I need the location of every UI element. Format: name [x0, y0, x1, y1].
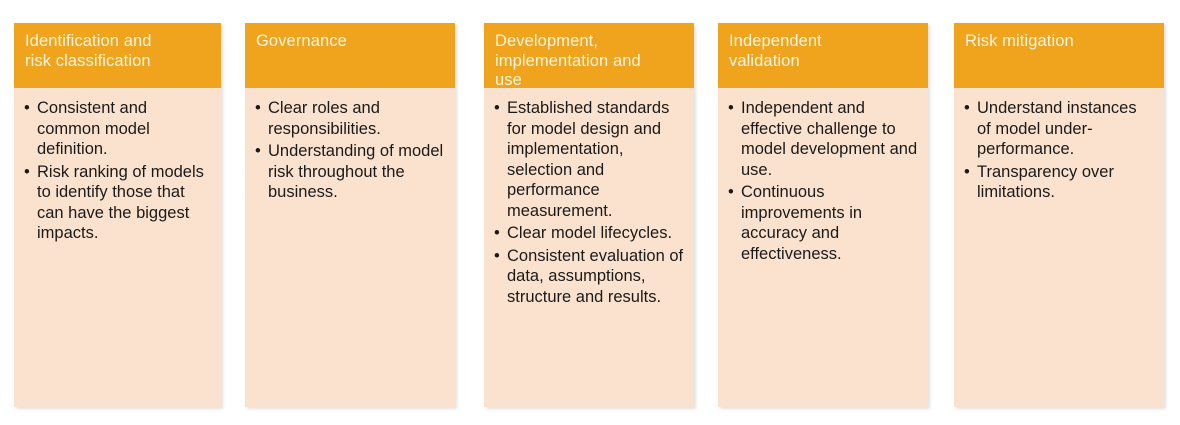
card-body: •Established standards for model design …: [484, 88, 694, 407]
framework-card-independent-validation: Independent validation •Independent and …: [718, 23, 928, 407]
list-item-label: Transparency over limitations.: [977, 163, 1114, 202]
list-item: •Established standards for model design …: [493, 98, 684, 221]
card-title: Development, implementation and use: [495, 32, 683, 91]
bullet-list: •Consistent and common model definition.…: [23, 98, 211, 244]
model-risk-management-framework-diagram: Identification and risk classification •…: [0, 0, 1180, 425]
list-item: •Understand instances of model under-per…: [963, 98, 1154, 160]
bullet-point-icon: •: [728, 182, 734, 203]
list-item: •Clear model lifecycles.: [493, 223, 684, 244]
card-body: •Independent and effective challenge to …: [718, 88, 928, 407]
card-title: Identification and risk classification: [25, 32, 210, 71]
list-item: •Continuous improvements in accuracy and…: [727, 182, 918, 264]
card-body: •Understand instances of model under-per…: [954, 88, 1164, 407]
card-header-independent-validation: Independent validation: [718, 23, 928, 88]
card-body: •Clear roles and responsibilities. •Unde…: [245, 88, 455, 407]
list-item-label: Independent and effective challenge to m…: [741, 99, 917, 179]
list-item: •Risk ranking of models to identify thos…: [23, 162, 211, 244]
bullet-point-icon: •: [494, 246, 500, 267]
card-body: •Consistent and common model definition.…: [14, 88, 221, 407]
list-item: •Consistent and common model definition.: [23, 98, 211, 160]
card-header-governance: Governance: [245, 23, 455, 88]
bullet-point-icon: •: [728, 98, 734, 119]
bullet-point-icon: •: [255, 141, 261, 162]
list-item-label: Consistent and common model definition.: [37, 99, 150, 158]
framework-card-identification-and-risk-classification: Identification and risk classification •…: [14, 23, 221, 407]
bullet-point-icon: •: [494, 223, 500, 244]
list-item: •Clear roles and responsibilities.: [254, 98, 445, 139]
list-item-label: Clear model lifecycles.: [507, 224, 672, 242]
list-item-label: Established standards for model design a…: [507, 99, 669, 220]
list-item: •Independent and effective challenge to …: [727, 98, 918, 180]
list-item-label: Risk ranking of models to identify those…: [37, 163, 204, 243]
framework-card-development-implementation-and-use: Development, implementation and use •Est…: [484, 23, 694, 407]
list-item-label: Understanding of model risk throughout t…: [268, 142, 443, 201]
bullet-list: •Established standards for model design …: [493, 98, 684, 307]
bullet-point-icon: •: [24, 98, 30, 119]
list-item: •Consistent evaluation of data, assumpti…: [493, 246, 684, 308]
card-title: Independent validation: [729, 32, 917, 71]
list-item-label: Understand instances of model under-perf…: [977, 99, 1137, 158]
framework-card-risk-mitigation: Risk mitigation •Understand instances of…: [954, 23, 1164, 407]
bullet-list: •Clear roles and responsibilities. •Unde…: [254, 98, 445, 203]
card-title: Risk mitigation: [965, 32, 1153, 52]
list-item: •Understanding of model risk throughout …: [254, 141, 445, 203]
card-header-identification-and-risk-classification: Identification and risk classification: [14, 23, 221, 88]
bullet-point-icon: •: [494, 98, 500, 119]
list-item-label: Consistent evaluation of data, assumptio…: [507, 247, 683, 306]
bullet-point-icon: •: [255, 98, 261, 119]
bullet-list: •Independent and effective challenge to …: [727, 98, 918, 264]
list-item-label: Clear roles and responsibilities.: [268, 99, 381, 138]
bullet-point-icon: •: [964, 162, 970, 183]
bullet-list: •Understand instances of model under-per…: [963, 98, 1154, 203]
framework-card-governance: Governance •Clear roles and responsibili…: [245, 23, 455, 407]
list-item: •Transparency over limitations.: [963, 162, 1154, 203]
bullet-point-icon: •: [964, 98, 970, 119]
card-header-risk-mitigation: Risk mitigation: [954, 23, 1164, 88]
card-header-development-implementation-and-use: Development, implementation and use: [484, 23, 694, 88]
card-title: Governance: [256, 32, 444, 52]
bullet-point-icon: •: [24, 162, 30, 183]
list-item-label: Continuous improvements in accuracy and …: [741, 183, 862, 263]
